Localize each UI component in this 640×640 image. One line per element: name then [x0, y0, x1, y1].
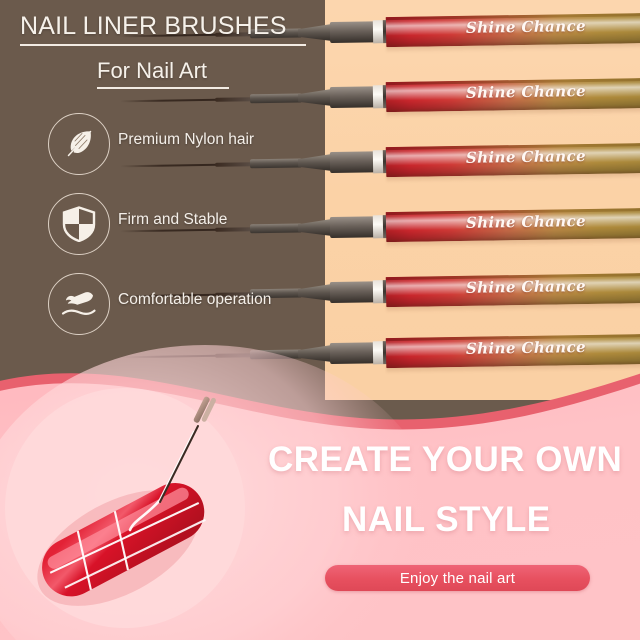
cta-headline-line2: NAIL STYLE [342, 500, 640, 540]
enjoy-the-nail-art-button[interactable]: Enjoy the nail art [325, 565, 590, 591]
cta-block: CREATE YOUR OWN NAIL STYLE Enjoy the nai… [0, 0, 640, 640]
promo-poster: NAIL LINER BRUSHES For Nail Art Premium … [0, 0, 640, 640]
cta-headline-line1: CREATE YOUR OWN [268, 440, 640, 480]
cta-button-label: Enjoy the nail art [400, 570, 515, 587]
